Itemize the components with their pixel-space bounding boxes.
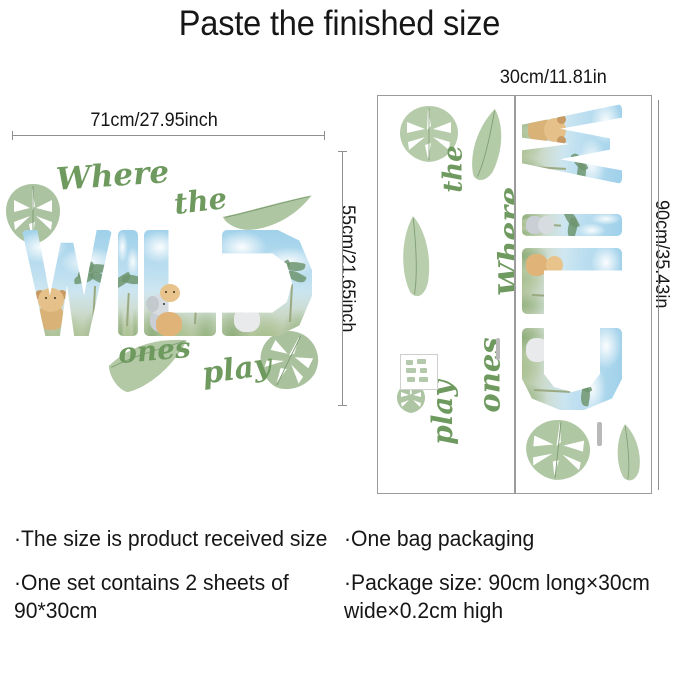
page-title: Paste the finished size: [24, 4, 655, 44]
sheet-height-dimension-line: [654, 100, 663, 490]
dimension-bar: [342, 151, 343, 406]
palm-tree-icon: [118, 274, 138, 326]
script-word-play: play: [200, 347, 273, 391]
sheet1-word-the: the: [439, 145, 469, 192]
feather-leaf-icon: [609, 420, 647, 485]
notes-left: ·The size is product received size ·One …: [14, 525, 331, 641]
feather-leaf-icon: [393, 213, 439, 304]
script-word-the: the: [172, 181, 229, 221]
artwork-height-dimension-line: [338, 151, 347, 406]
sheet1-gray-marker: [496, 338, 500, 360]
sheet1-word-where: Where: [493, 187, 515, 296]
lion-cub-icon: [33, 282, 69, 330]
artwork-preview: Where the ones play: [6, 152, 326, 402]
sheet1-word-ones: ones: [473, 337, 507, 412]
note-size-received: ·The size is product received size: [14, 525, 331, 553]
palm-tree-icon: [78, 264, 108, 326]
note-set-contents: ·One set contains 2 sheets of 90*30cm: [14, 569, 331, 625]
letter-block-d: [222, 230, 312, 336]
foliage-ground: [22, 291, 112, 336]
script-word-ones: ones: [117, 331, 192, 370]
script-word-where: Where: [55, 154, 170, 198]
dimension-bar: [658, 100, 659, 490]
sheet2-letter-i: [522, 214, 622, 236]
sticker-sheet-1: the Where ones play: [377, 95, 515, 494]
notes-right: ·One bag packaging ·Package size: 90cm l…: [344, 525, 666, 641]
mini-sticker-sheet: [400, 354, 438, 390]
artwork-width-label: 71cm/27.95inch: [90, 110, 217, 132]
sheet2-letter-l: [522, 248, 622, 314]
dimension-cap-bottom: [338, 405, 347, 406]
sheet2-letter-d: [522, 328, 622, 410]
note-bag-packaging: ·One bag packaging: [344, 525, 666, 553]
note-package-size: ·Package size: 90cm long×30cm wide×0.2cm…: [344, 569, 666, 625]
dimension-bar: [12, 135, 325, 136]
letter-block-i: [118, 230, 138, 336]
infographic-page: Paste the finished size 71cm/27.95inch 5…: [0, 0, 679, 694]
sticker-sheet-2: [515, 95, 652, 494]
sheet2-letter-w: [522, 104, 622, 184]
artwork-width-dimension-line: [12, 131, 325, 140]
giraffe-icon: [152, 280, 186, 336]
sheet2-gray-marker: [597, 422, 602, 446]
palm-tree-icon: [274, 262, 306, 322]
dimension-cap-right: [324, 131, 325, 140]
sheet-width-label: 30cm/11.81in: [500, 67, 607, 89]
monstera-leaf-icon: [519, 414, 597, 485]
letter-block-w: [22, 230, 112, 336]
zebra-icon: [230, 284, 264, 332]
